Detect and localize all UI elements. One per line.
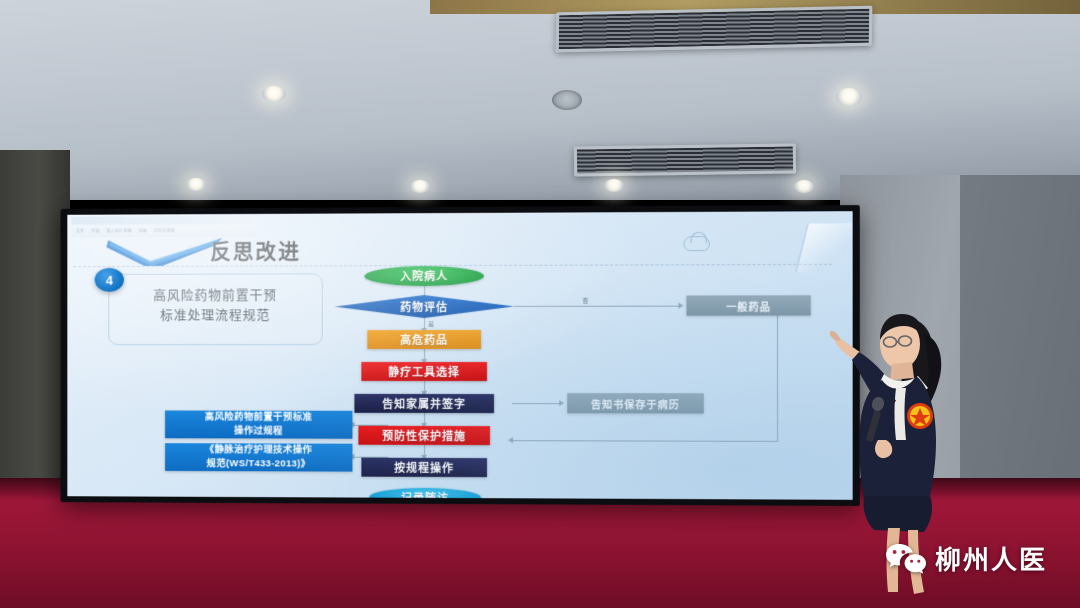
connector — [512, 403, 560, 404]
flow-node-operate[interactable]: 按规程操作 — [361, 458, 487, 477]
connector — [777, 316, 778, 442]
flow-node-label: 药物评估 — [400, 299, 448, 315]
flow-node-protect[interactable]: 预防性保护措施 — [358, 426, 490, 445]
flow-node-archive[interactable]: 告知书保存于病历 — [567, 393, 703, 413]
reference-line-1: 高风险药物前置干预标准 — [205, 411, 312, 425]
flow-node-highrisk[interactable]: 高危药品 — [367, 330, 481, 349]
flow-node-label: 高危药品 — [400, 332, 448, 348]
ceiling — [0, 0, 1080, 200]
flow-node-label: 入院病人 — [400, 268, 448, 284]
reference-line-1: 《静脉治疗护理技术操作 — [205, 444, 312, 458]
wechat-icon — [885, 542, 927, 576]
flow-node-general-medication[interactable]: 一般药品 — [686, 295, 810, 315]
downlight-icon — [410, 180, 430, 193]
downlight-icon — [262, 86, 286, 102]
downlight-icon — [186, 178, 206, 191]
flow-node-label: 预防性保护措施 — [382, 427, 466, 443]
flow-node-label: 告知书保存于病历 — [591, 396, 680, 411]
flowchart: 否 是 入院病人 药物评 — [67, 211, 852, 500]
step-badge: 4 — [95, 268, 124, 292]
flow-node-inform[interactable]: 告知家属并签字 — [354, 394, 494, 413]
reference-line-2: 操作过规程 — [234, 425, 283, 439]
flow-node-label: 告知家属并签字 — [382, 395, 466, 411]
downlight-icon — [604, 179, 624, 192]
left-wall — [0, 150, 70, 480]
reference-box-sop[interactable]: 高风险药物前置干预标准 操作过规程 — [165, 410, 352, 438]
downlight-icon — [836, 88, 862, 106]
flow-node-label: 按规程操作 — [394, 459, 454, 475]
reference-box-standard[interactable]: 《静脉治疗护理技术操作 规范(WS/T433-2013)》 — [165, 443, 352, 471]
arrow-icon — [559, 400, 564, 406]
screenshot-stage: 文件 开始 插入设计切换 动画 幻灯片放映 反思改进 4 高风险药物前置干预 标… — [0, 0, 1080, 608]
connector — [511, 440, 778, 442]
hvac-vent-icon — [574, 143, 796, 176]
branch-label-yes: 是 — [428, 319, 434, 328]
flow-node-admit[interactable]: 入院病人 — [364, 266, 484, 286]
right-wall-shadow — [960, 175, 1080, 505]
downlight-icon — [552, 90, 582, 110]
flow-node-label: 记录随访 — [401, 489, 449, 500]
presentation-slide: 文件 开始 插入设计切换 动画 幻灯片放映 反思改进 4 高风险药物前置干预 标… — [67, 211, 852, 500]
arrow-icon — [508, 437, 513, 443]
connector — [514, 306, 679, 308]
flow-node-followup[interactable]: 记录随访 — [369, 488, 481, 500]
hvac-vent-icon — [556, 6, 873, 53]
flow-node-label: 静疗工具选择 — [388, 363, 460, 379]
uniform-badge-icon — [907, 403, 933, 429]
reference-line-2: 规范(WS/T433-2013)》 — [207, 457, 311, 471]
watermark: 柳州人医 — [885, 540, 1047, 577]
watermark-label: 柳州人医 — [935, 540, 1047, 577]
downlight-icon — [794, 180, 814, 193]
projection-screen: 文件 开始 插入设计切换 动画 幻灯片放映 反思改进 4 高风险药物前置干预 标… — [61, 205, 860, 506]
arrow-icon — [678, 303, 683, 309]
flow-node-label: 一般药品 — [726, 298, 771, 313]
branch-label-no: 否 — [582, 296, 589, 305]
flow-node-assess[interactable]: 药物评估 — [335, 295, 514, 318]
flow-node-tool[interactable]: 静疗工具选择 — [361, 362, 487, 381]
